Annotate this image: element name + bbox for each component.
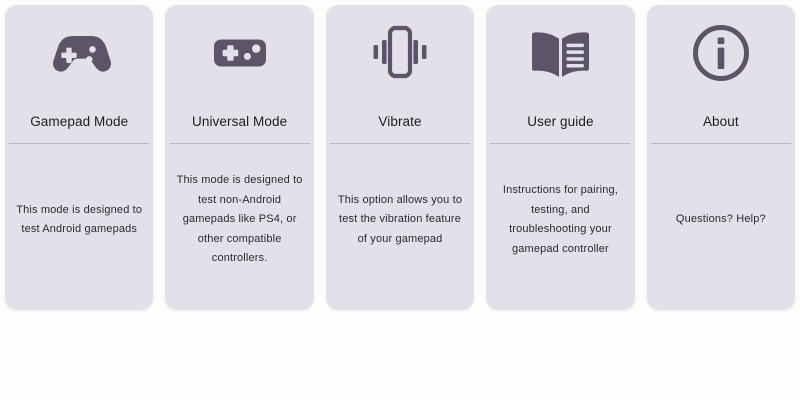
card-description-area: This option allows you to test the vibra… <box>326 144 474 310</box>
gamepad-icon <box>5 5 153 101</box>
vibrate-icon <box>326 5 474 101</box>
book-icon <box>486 5 634 101</box>
card-description: Questions? Help? <box>676 210 766 230</box>
card-description: Instructions for pairing, testing, and t… <box>494 181 626 259</box>
card-description: This option allows you to test the vibra… <box>334 191 466 250</box>
card-description: This mode is designed to test Android ga… <box>13 201 145 240</box>
card-description-area: Instructions for pairing, testing, and t… <box>486 144 634 310</box>
card-title: User guide <box>521 101 599 143</box>
info-circle-icon <box>647 5 795 101</box>
card-title: Gamepad Mode <box>24 101 134 143</box>
card-description-area: Questions? Help? <box>647 144 795 310</box>
card-description-area: This mode is designed to test non-Androi… <box>165 144 313 310</box>
card-gamepad-mode[interactable]: Gamepad Mode This mode is designed to te… <box>5 5 153 310</box>
card-title: Vibrate <box>372 101 427 143</box>
card-title: About <box>697 101 745 143</box>
universal-gamepad-icon <box>165 5 313 101</box>
card-about[interactable]: About Questions? Help? <box>647 5 795 310</box>
card-description-area: This mode is designed to test Android ga… <box>5 144 153 310</box>
card-user-guide[interactable]: User guide Instructions for pairing, tes… <box>486 5 634 310</box>
card-description: This mode is designed to test non-Androi… <box>173 171 305 269</box>
card-title: Universal Mode <box>186 101 293 143</box>
card-vibrate[interactable]: Vibrate This option allows you to test t… <box>326 5 474 310</box>
card-universal-mode[interactable]: Universal Mode This mode is designed to … <box>165 5 313 310</box>
mode-card-grid: Gamepad Mode This mode is designed to te… <box>0 0 800 310</box>
